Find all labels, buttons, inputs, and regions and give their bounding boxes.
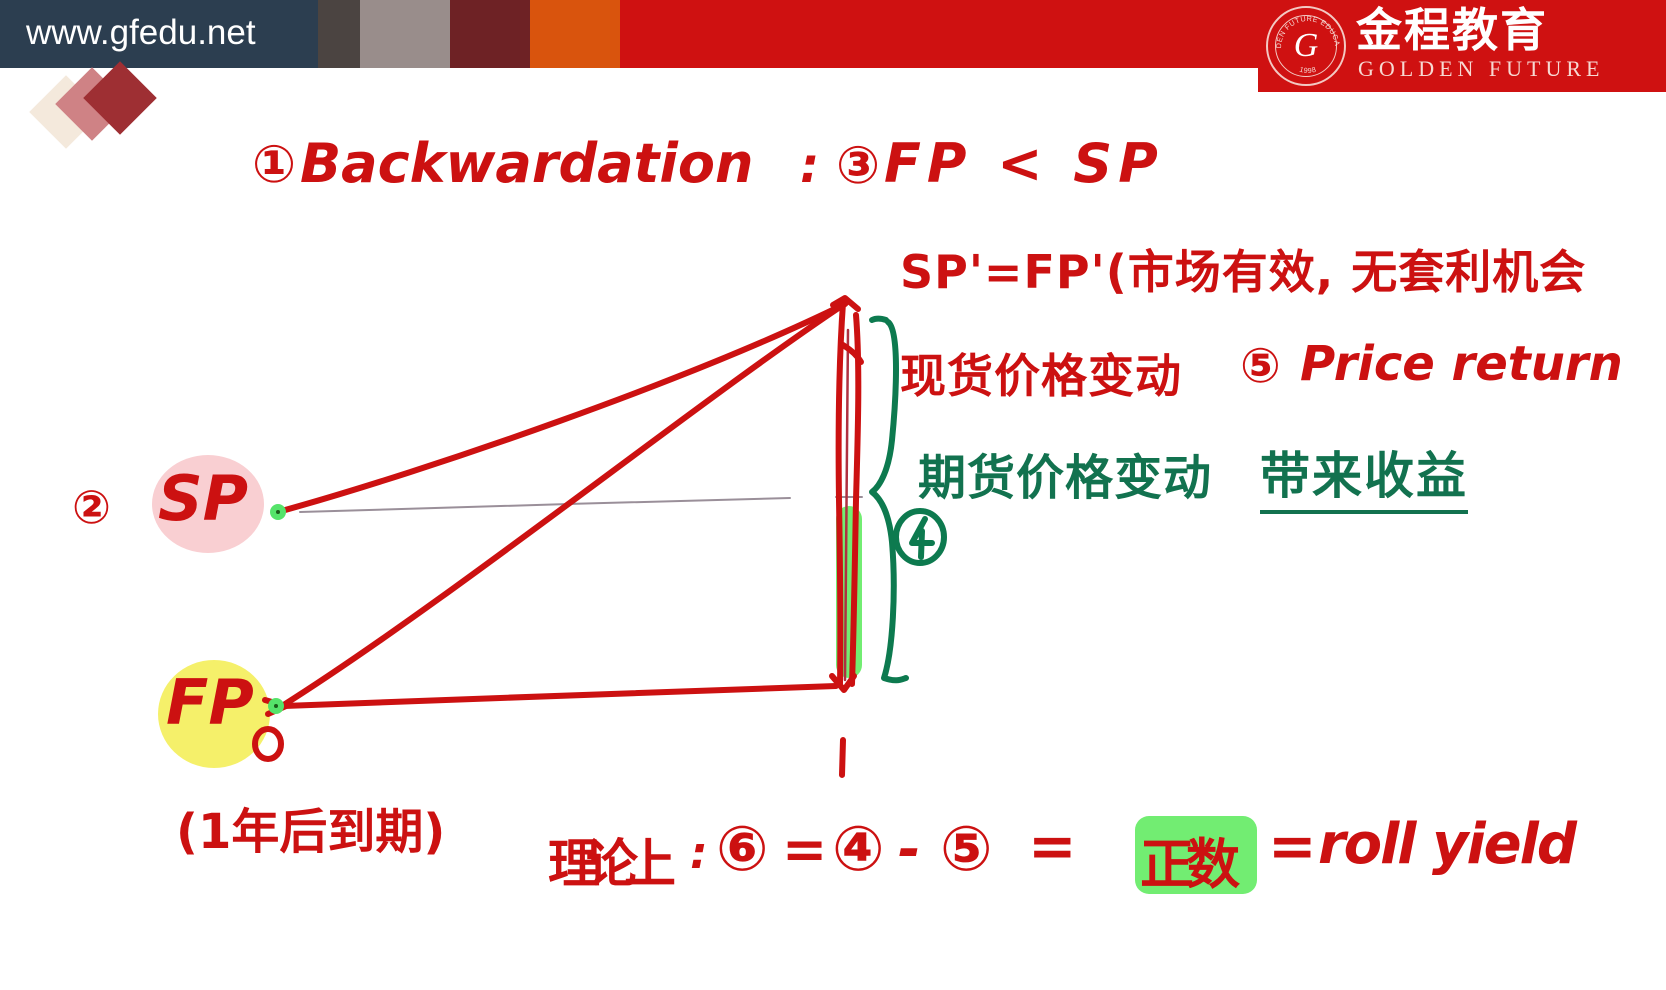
- diagram-marker-2: ②: [72, 480, 111, 534]
- bottom-result-marker: ⑥: [716, 812, 769, 885]
- bottom-eq-3: =: [1268, 812, 1317, 880]
- bottom-highlighted-value: 正数: [1140, 820, 1232, 899]
- whiteboard-screenshot: www.gfedu.net GOLDEN FUTURE EDUCATION 19…: [0, 0, 1666, 990]
- diagram-label-fp: FP: [166, 666, 254, 739]
- note-marker-5: ⑤: [1240, 338, 1281, 394]
- bottom-english-term: roll yield: [1318, 812, 1575, 877]
- diagram-fp-note: (1年后到期): [176, 792, 445, 862]
- note-price-return: Price return: [1300, 336, 1623, 392]
- note-spot-price-change: 现货价格变动: [900, 340, 1182, 406]
- condition-marker: ③: [836, 136, 880, 196]
- bottom-eq-2: =: [1028, 812, 1077, 880]
- bottom-minus: -: [898, 818, 920, 881]
- note-benefit: 带来收益: [1260, 436, 1468, 514]
- note-futures-price-change: 期货价格变动: [918, 438, 1212, 508]
- title-colon: :: [800, 138, 819, 194]
- bottom-colon: :: [690, 828, 708, 879]
- bottom-minuend: ④: [832, 812, 885, 885]
- title-term: Backwardation: [300, 132, 753, 195]
- condition-expression: FP < SP: [884, 132, 1164, 195]
- bottom-prefix-cn: 理论上: [548, 822, 662, 897]
- bottom-eq-1: =: [782, 818, 827, 881]
- bottom-subtrahend: ⑤: [940, 812, 993, 885]
- diagram-label-sp: SP: [158, 462, 248, 535]
- title-marker: ①: [252, 135, 296, 195]
- handwriting-layer: ① Backwardation : ③ FP < SP SP'=FP'(市场有效…: [0, 0, 1666, 990]
- note-sp-equals-fp: SP'=FP'(市场有效, 无套利机会: [900, 236, 1586, 302]
